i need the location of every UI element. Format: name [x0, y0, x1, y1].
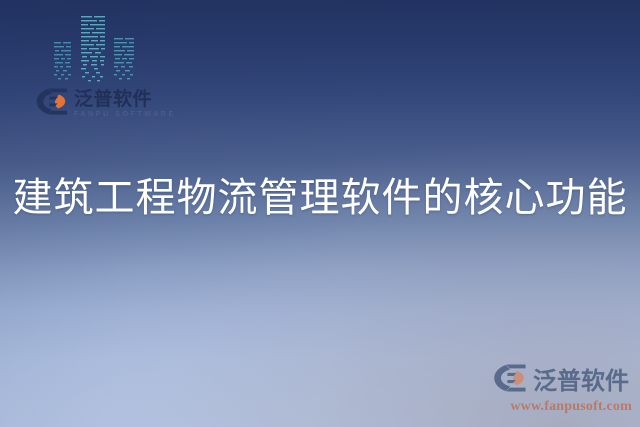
fanpu-logo-mark-icon [36, 88, 68, 120]
logo-chinese-text: 泛普软件 [74, 90, 176, 109]
digital-building-skyline-icon [52, 12, 136, 84]
watermark-chinese-text: 泛普软件 [533, 369, 629, 393]
fanpu-software-logo: 泛普软件 FANPU SOFTWARE [36, 88, 176, 120]
watermark-logo-mark-icon [492, 364, 528, 397]
slide-canvas: 泛普软件 FANPU SOFTWARE 建筑工程物流管理软件的核心功能 泛普软件… [0, 0, 640, 427]
logo-english-text: FANPU SOFTWARE [74, 111, 176, 118]
watermark-logo-row: 泛普软件 [492, 364, 632, 397]
fanpu-watermark: 泛普软件 www.fanpusoft.com [492, 364, 632, 415]
slide-title: 建筑工程物流管理软件的核心功能 [0, 172, 640, 224]
watermark-url-text: www.fanpusoft.com [492, 399, 632, 415]
